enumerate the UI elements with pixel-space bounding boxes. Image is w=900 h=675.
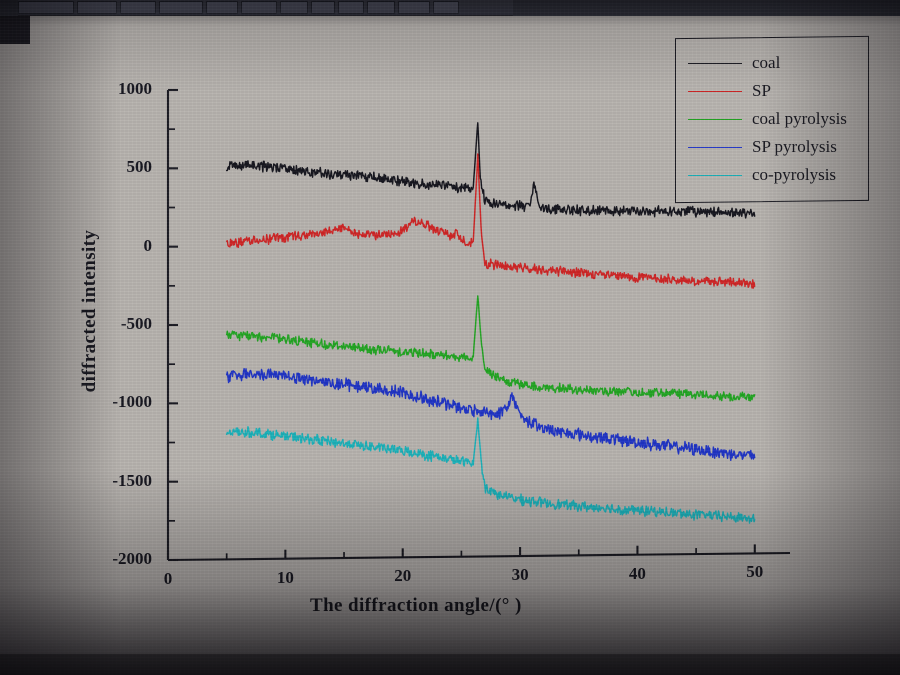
legend-label: SP <box>752 81 771 101</box>
y-tick--1000: -1000 <box>0 392 152 412</box>
legend-swatch-icon <box>688 147 742 148</box>
y-tick--2000: -2000 <box>0 549 152 569</box>
legend-swatch-icon <box>688 63 742 64</box>
x-tick-50: 50 <box>733 562 777 582</box>
chart-legend: coalSPcoal pyrolysisSP pyrolysisco-pyrol… <box>675 36 869 203</box>
legend-item-SP-pyrolysis: SP pyrolysis <box>688 133 868 161</box>
x-tick-20: 20 <box>381 566 425 586</box>
x-tick-10: 10 <box>263 568 307 588</box>
legend-item-co-pyrolysis: co-pyrolysis <box>688 161 868 189</box>
x-tick-40: 40 <box>615 564 659 584</box>
x-tick-30: 30 <box>498 565 542 585</box>
legend-swatch-icon <box>688 119 742 120</box>
y-tick-1000: 1000 <box>0 79 152 99</box>
screenshot-root: diffracted intensity The diffraction ang… <box>0 0 900 675</box>
y-tick--500: -500 <box>0 314 152 334</box>
x-axis-title: The diffraction angle/(° ) <box>310 595 522 617</box>
series-co-pyrolysis <box>227 418 755 523</box>
y-tick-500: 500 <box>0 157 152 177</box>
legend-swatch-icon <box>688 175 742 176</box>
legend-label: coal <box>752 53 780 73</box>
y-tick--1500: -1500 <box>0 471 152 491</box>
series-SP-pyrolysis <box>227 369 755 461</box>
legend-item-SP: SP <box>688 77 868 105</box>
legend-item-coal: coal <box>688 49 868 77</box>
y-tick-0: 0 <box>0 236 152 256</box>
legend-label: co-pyrolysis <box>752 165 836 185</box>
x-tick-0: 0 <box>146 569 190 589</box>
series-coal-pyrolysis <box>227 296 755 401</box>
legend-label: SP pyrolysis <box>752 137 837 157</box>
legend-label: coal pyrolysis <box>752 109 847 129</box>
legend-item-coal-pyrolysis: coal pyrolysis <box>688 105 868 133</box>
legend-swatch-icon <box>688 91 742 92</box>
